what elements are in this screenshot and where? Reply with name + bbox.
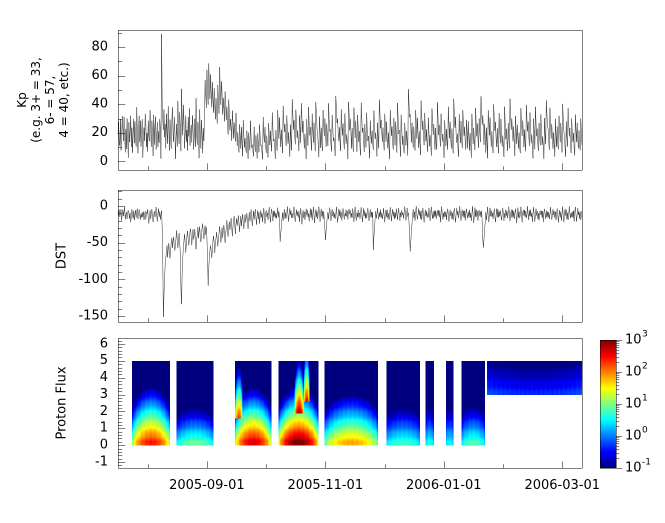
figure-root: Kp DST Proton Flux [0, 0, 665, 523]
plot-canvas [0, 0, 665, 523]
